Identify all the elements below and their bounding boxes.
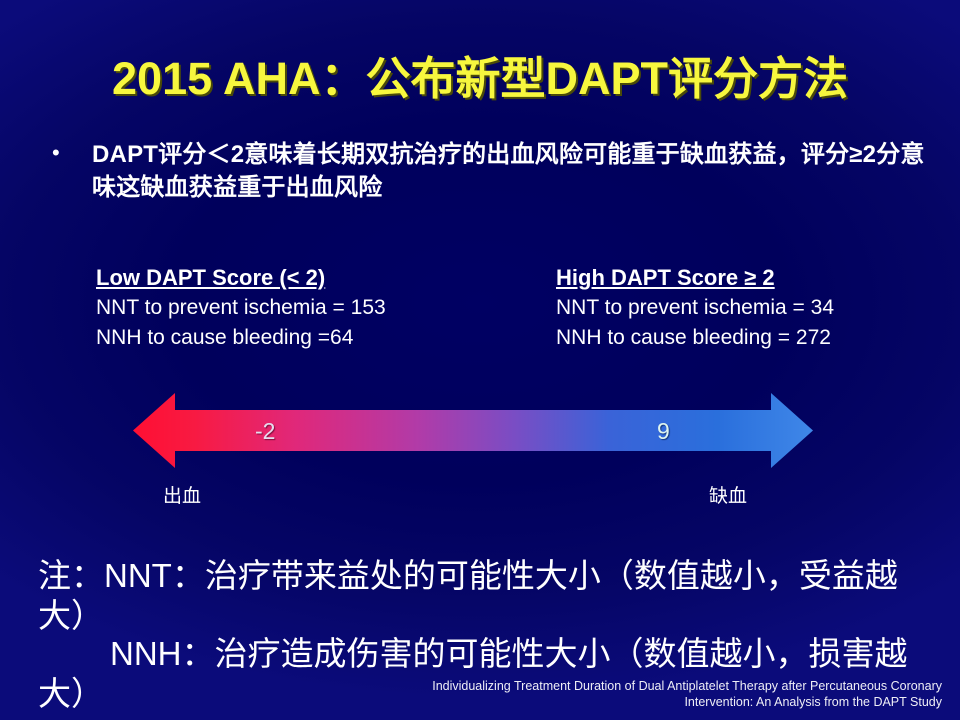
high-dapt-nnt-line: NNT to prevent ischemia = 34	[556, 293, 956, 323]
low-dapt-score-block: Low DAPT Score (< 2) NNT to prevent isch…	[96, 263, 516, 353]
arrow-caption-bleeding: 出血	[163, 486, 201, 508]
double-headed-arrow-icon	[133, 388, 813, 473]
high-dapt-nnh-line: NNH to cause bleeding = 272	[556, 323, 956, 353]
high-dapt-score-block: High DAPT Score ≥ 2 NNT to prevent ische…	[556, 263, 956, 353]
risk-benefit-arrow: -2 9	[133, 388, 813, 473]
slide-canvas: 2015 AHA：公布新型DAPT评分方法 • DAPT评分＜2意味着长期双抗治…	[0, 0, 960, 720]
low-dapt-nnh-line: NNH to cause bleeding =64	[96, 323, 516, 353]
low-dapt-nnt-line: NNT to prevent ischemia = 153	[96, 293, 516, 323]
note-nnt: 注：NNT：治疗带来益处的可能性大小（数值越小，受益越大）	[38, 556, 940, 636]
page-title: 2015 AHA：公布新型DAPT评分方法	[0, 42, 960, 107]
low-dapt-score-heading: Low DAPT Score (< 2)	[96, 263, 516, 293]
bullet-marker-icon: •	[52, 138, 74, 168]
arrow-left-value: -2	[255, 419, 275, 443]
arrow-right-value: 9	[657, 419, 670, 443]
arrow-caption-ischemia: 缺血	[709, 486, 747, 508]
high-dapt-score-heading: High DAPT Score ≥ 2	[556, 263, 956, 293]
citation-text: Individualizing Treatment Duration of Du…	[362, 678, 942, 710]
bullet-text: DAPT评分＜2意味着长期双抗治疗的出血风险可能重于缺血获益，评分≥2分意味这缺…	[74, 138, 932, 204]
bullet-paragraph: • DAPT评分＜2意味着长期双抗治疗的出血风险可能重于缺血获益，评分≥2分意味…	[52, 138, 932, 204]
